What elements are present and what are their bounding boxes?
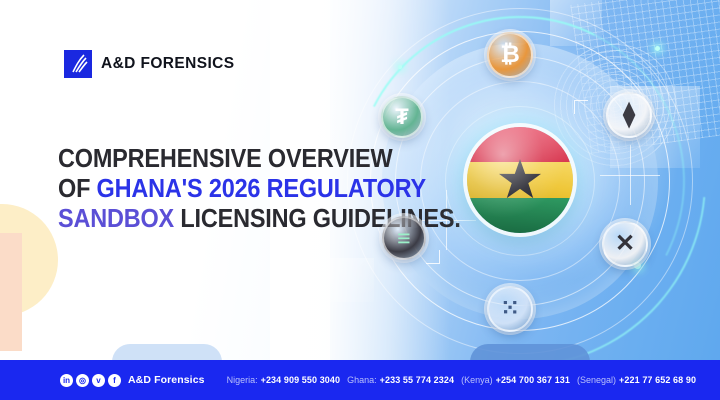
ad-forensics-logo-mark-icon <box>64 50 92 78</box>
slide-canvas: A&D FORENSICS COMPREHENSIVE OVERVIEW OF … <box>0 0 720 400</box>
xrp-symbol: ✕ <box>615 232 635 256</box>
contact-list: Nigeria:+234 909 550 3040Ghana:+233 55 7… <box>227 375 697 385</box>
spark-dot-3 <box>398 65 402 69</box>
contact-item: Nigeria:+234 909 550 3040 <box>227 375 341 385</box>
contact-item: Ghana:+233 55 774 2324 <box>347 375 454 385</box>
xrp-coin-icon: ✕ <box>602 221 648 267</box>
corner-bracket-2 <box>426 250 440 264</box>
tether-coin-icon: ₮ <box>381 96 423 138</box>
page-title: COMPREHENSIVE OVERVIEW OF GHANA'S 2026 R… <box>58 144 362 234</box>
social-links-group[interactable]: in◎ᴠf <box>60 374 121 387</box>
solana-coin-face: ≡ <box>382 216 426 260</box>
headline-line-1: COMPREHENSIVE OVERVIEW <box>58 144 362 174</box>
footer-bar: in◎ᴠf A&D Forensics Nigeria:+234 909 550… <box>0 360 720 400</box>
solana-coin-icon: ≡ <box>382 216 426 260</box>
bitcoin-coin-icon: ₿ <box>487 32 533 78</box>
bitcoin-coin-face: ₿ <box>487 32 533 78</box>
brand-logo[interactable]: A&D FORENSICS <box>64 50 235 78</box>
corner-bracket-1 <box>574 100 588 114</box>
headline-line-2-prefix: OF <box>58 175 97 203</box>
xrp-coin-face: ✕ <box>602 221 648 267</box>
cardano-symbol: ⁙ <box>500 297 520 321</box>
contact-number[interactable]: +233 55 774 2324 <box>380 375 454 385</box>
tether-coin-face: ₮ <box>381 96 423 138</box>
ethereum-coin-icon: ⧫ <box>606 92 652 138</box>
linkedin-icon[interactable]: in <box>60 374 73 387</box>
contact-number[interactable]: +234 909 550 3040 <box>261 375 341 385</box>
ghana-flag-icon <box>467 127 573 233</box>
cardano-coin-face: ⁙ <box>487 286 533 332</box>
contact-label: Nigeria: <box>227 375 258 385</box>
cardano-coin-icon: ⁙ <box>487 286 533 332</box>
headline-line-2: OF GHANA'S 2026 REGULATORY <box>58 174 362 204</box>
contact-label: (Kenya) <box>461 375 493 385</box>
tether-symbol: ₮ <box>395 106 408 128</box>
contact-label: Ghana: <box>347 375 377 385</box>
crosshair-decoration-2 <box>600 145 660 205</box>
contact-number[interactable]: +221 77 652 68 90 <box>619 375 696 385</box>
flag-gloss-overlay <box>467 127 573 233</box>
footer-brand-name: A&D Forensics <box>128 374 205 386</box>
spark-dot-1 <box>655 46 660 51</box>
peach-rectangle-decoration <box>0 233 22 351</box>
twitter-icon[interactable]: ᴠ <box>92 374 105 387</box>
contact-item: (Senegal)+221 77 652 68 90 <box>577 375 696 385</box>
solana-symbol: ≡ <box>397 227 410 250</box>
headline-line-2-highlight: GHANA'S 2026 REGULATORY <box>97 175 426 203</box>
contact-label: (Senegal) <box>577 375 616 385</box>
ethereum-symbol: ⧫ <box>623 103 635 127</box>
brand-logo-text: A&D FORENSICS <box>101 55 235 73</box>
contact-item: (Kenya)+254 700 367 131 <box>461 375 570 385</box>
instagram-icon[interactable]: ◎ <box>76 374 89 387</box>
bitcoin-symbol: ₿ <box>500 43 520 67</box>
headline-line-3-highlight: SANDBOX <box>58 205 174 233</box>
contact-number[interactable]: +254 700 367 131 <box>496 375 570 385</box>
facebook-icon[interactable]: f <box>108 374 121 387</box>
headline-line-3: SANDBOX LICENSING GUIDELINES. <box>58 204 362 234</box>
ethereum-coin-face: ⧫ <box>606 92 652 138</box>
